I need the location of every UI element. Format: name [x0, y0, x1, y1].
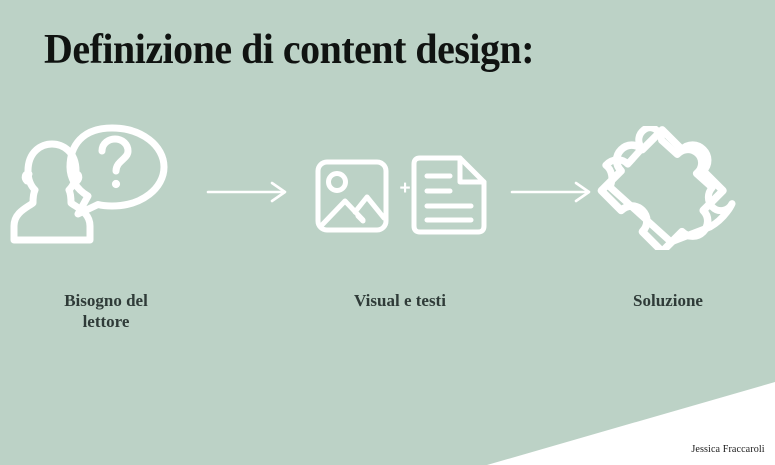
- arrow-right-icon: [206, 178, 290, 204]
- image-icon-sun: [329, 174, 346, 191]
- process-flow-diagram: Bisogno del lettore: [0, 118, 775, 348]
- flow-step-1-artwork: [8, 118, 204, 248]
- document-icon: [410, 154, 490, 238]
- flow-step-3-label: Soluzione: [578, 290, 758, 311]
- question-mark-dot: [113, 181, 118, 186]
- flow-step-1-label-line2: lettore: [83, 312, 130, 331]
- flow-step-3-artwork: [578, 118, 758, 248]
- puzzle-piece-outline-path: [591, 120, 740, 250]
- flow-step-2-artwork: +: [292, 118, 508, 248]
- flow-connector-arrow-1: [206, 178, 290, 204]
- slide-canvas: Definizione di content design:: [0, 0, 775, 465]
- flow-step-2-label: Visual e testi: [292, 290, 508, 311]
- puzzle-piece: [590, 120, 740, 250]
- author-credit: Jessica Fraccaroli: [692, 443, 765, 455]
- question-mark-icon: [102, 139, 128, 171]
- flow-step-1-label: Bisogno del lettore: [8, 290, 204, 332]
- image-icon: [314, 158, 390, 234]
- user-question-icon-group: [8, 118, 204, 248]
- flow-step-1-label-line1: Bisogno del: [64, 291, 148, 310]
- flow-step-bisogno-del-lettore: Bisogno del lettore: [8, 118, 204, 348]
- page-title: Definizione di content design:: [44, 26, 534, 74]
- flow-step-soluzione: Soluzione: [578, 118, 758, 348]
- image-icon-detail-stroke: [358, 216, 363, 221]
- user-ear-left-detail: [25, 174, 29, 181]
- flow-step-visual-e-testi: + Visual e testi: [292, 118, 508, 348]
